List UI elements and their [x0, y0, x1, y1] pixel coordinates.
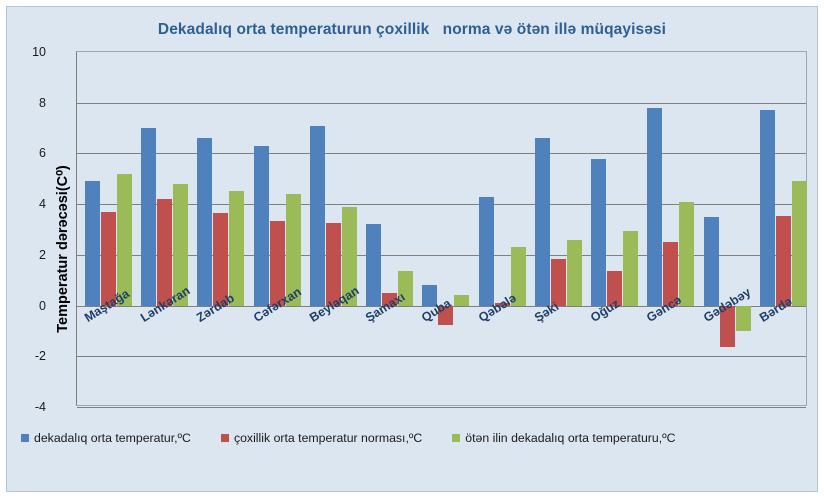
- y-tick-label: -2: [0, 349, 46, 363]
- legend-item[interactable]: dekadalıq orta temperatur,ºC: [21, 431, 191, 445]
- bar-0: [760, 110, 775, 305]
- bar-group: [189, 52, 245, 405]
- y-tick-label: 8: [0, 96, 46, 110]
- legend-swatch-icon: [221, 434, 229, 442]
- legend-item[interactable]: ötən ilin dekadalıq orta temperaturu,ºC: [452, 431, 675, 445]
- y-tick-label: 0: [0, 299, 46, 313]
- bar-1: [101, 212, 116, 306]
- y-tick-label: 6: [0, 146, 46, 160]
- y-tick-label: 2: [0, 248, 46, 262]
- bar-group: [133, 52, 189, 405]
- bar-0: [366, 224, 381, 305]
- bar-0: [704, 217, 719, 306]
- legend-label: ötən ilin dekadalıq orta temperaturu,ºC: [465, 431, 675, 445]
- chart-legend: dekadalıq orta temperatur,ºCçoxillik ort…: [21, 431, 706, 445]
- y-tick-label: -4: [0, 400, 46, 414]
- bar-group: [358, 52, 414, 405]
- bar-group: [527, 52, 583, 405]
- bar-0: [85, 181, 100, 305]
- bar-group: [471, 52, 527, 405]
- bar-0: [647, 108, 662, 306]
- bar-2: [623, 231, 638, 306]
- bar-0: [310, 126, 325, 306]
- y-tick-label: 10: [0, 45, 46, 59]
- bar-group: [77, 52, 133, 405]
- legend-swatch-icon: [21, 434, 29, 442]
- bar-group: [639, 52, 695, 405]
- bar-group: [583, 52, 639, 405]
- gridline--4: [77, 407, 806, 408]
- bar-2: [454, 295, 469, 305]
- bar-2: [736, 306, 751, 331]
- plot-area: 1086420-2-4: [76, 51, 807, 406]
- y-axis-title: Temperatur dərəcəsi(C⁰): [55, 165, 71, 333]
- bar-2: [792, 181, 807, 305]
- legend-label: dekadalıq orta temperatur,ºC: [34, 431, 191, 445]
- bar-0: [141, 128, 156, 306]
- bar-group: [696, 52, 752, 405]
- chart-title: Dekadalıq orta temperaturun çoxillik nor…: [7, 21, 817, 39]
- bar-0: [197, 138, 212, 305]
- legend-label: çoxillik orta temperatur norması,ºC: [234, 431, 422, 445]
- chart-container: Dekadalıq orta temperaturun çoxillik nor…: [6, 6, 818, 492]
- bar-0: [254, 146, 269, 306]
- bar-0: [535, 138, 550, 305]
- bar-group: [246, 52, 302, 405]
- bar-group: [302, 52, 358, 405]
- bar-1: [157, 199, 172, 306]
- bar-2: [679, 202, 694, 306]
- bar-group: [752, 52, 808, 405]
- bar-0: [479, 197, 494, 306]
- bar-0: [591, 159, 606, 306]
- y-tick-label: 4: [0, 197, 46, 211]
- legend-item[interactable]: çoxillik orta temperatur norması,ºC: [221, 431, 422, 445]
- bar-group: [414, 52, 470, 405]
- bar-2: [567, 240, 582, 306]
- legend-swatch-icon: [452, 434, 460, 442]
- bar-1: [776, 216, 791, 306]
- bar-2: [229, 191, 244, 305]
